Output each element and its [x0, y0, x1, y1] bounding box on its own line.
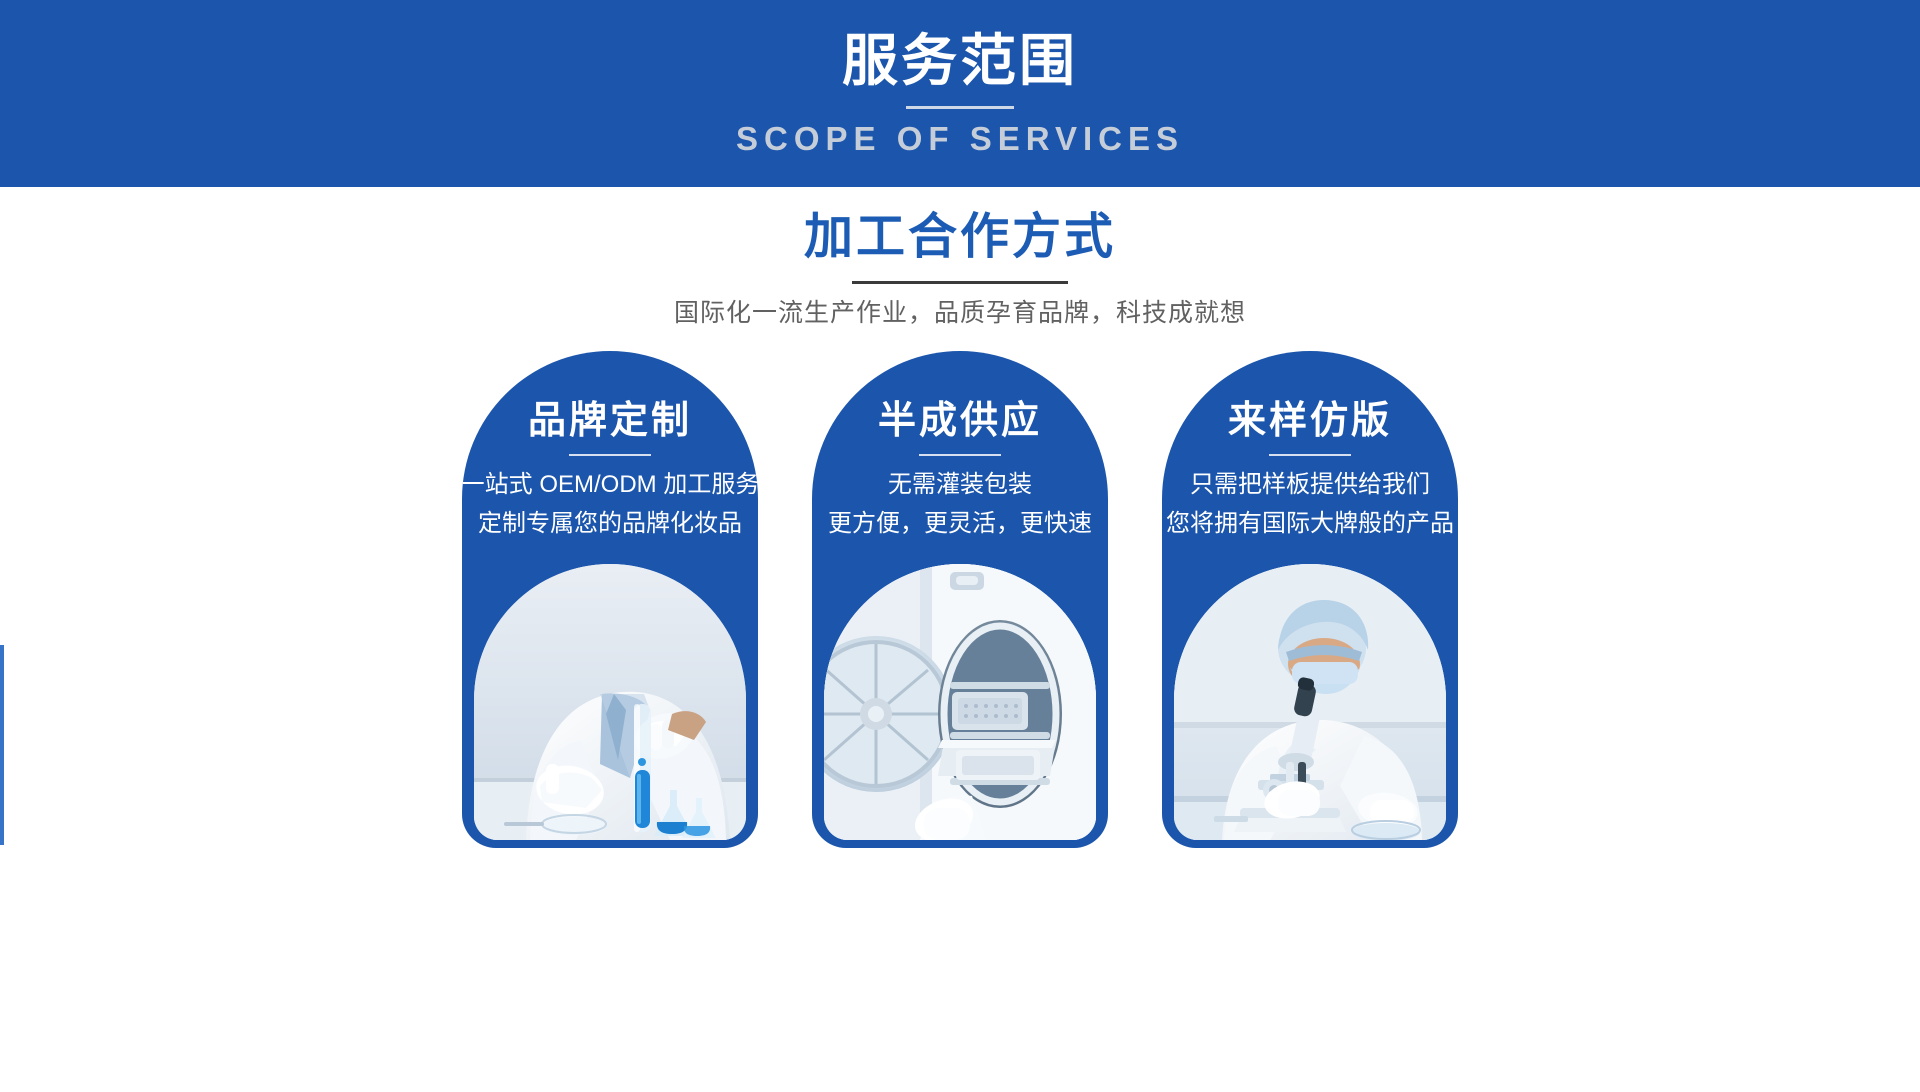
- scientist-pipette-photo: [474, 564, 746, 840]
- card-description: 只需把样板提供给我们 您将拥有国际大牌般的产品: [1162, 471, 1458, 537]
- section-divider: [852, 281, 1068, 284]
- page-root: 服务范围 SCOPE OF SERVICES 加工合作方式 国际化一流生产作业，…: [0, 0, 1920, 1092]
- card-title: 来样仿版: [1228, 402, 1392, 440]
- section-header: 加工合作方式 国际化一流生产作业，品质孕育品牌，科技成就想: [0, 187, 1920, 328]
- card-line-2: 您将拥有国际大牌般的产品: [1166, 510, 1454, 538]
- banner-divider: [906, 106, 1014, 109]
- photo-illustration: [1174, 564, 1446, 840]
- section-title: 加工合作方式: [804, 209, 1116, 265]
- service-card-semi-finished-supply[interactable]: 半成供应 无需灌装包装 更方便，更灵活，更快速: [812, 351, 1108, 848]
- photo-illustration: [474, 564, 746, 840]
- scope-of-services-banner: 服务范围 SCOPE OF SERVICES: [0, 0, 1920, 187]
- card-divider: [569, 454, 651, 456]
- section-subtitle: 国际化一流生产作业，品质孕育品牌，科技成就想: [674, 298, 1246, 328]
- service-card-sample-replication[interactable]: 来样仿版 只需把样板提供给我们 您将拥有国际大牌般的产品: [1162, 351, 1458, 848]
- card-divider: [1269, 454, 1351, 456]
- card-title: 半成供应: [878, 402, 1042, 440]
- card-line-1: 一站式 OEM/ODM 加工服务: [462, 471, 758, 499]
- card-description: 一站式 OEM/ODM 加工服务 定制专属您的品牌化妆品: [462, 471, 758, 537]
- photo-illustration: [824, 564, 1096, 840]
- autoclave-sterilizer-photo: [824, 564, 1096, 840]
- card-line-2: 定制专属您的品牌化妆品: [478, 510, 742, 538]
- card-line-1: 无需灌装包装: [888, 471, 1032, 499]
- service-cards-row: 品牌定制 一站式 OEM/ODM 加工服务 定制专属您的品牌化妆品: [0, 351, 1920, 851]
- banner-title-en: SCOPE OF SERVICES: [736, 122, 1184, 155]
- microscope-researcher-photo: [1174, 564, 1446, 840]
- card-line-1: 只需把样板提供给我们: [1190, 471, 1430, 499]
- banner-title-cn: 服务范围: [842, 33, 1078, 89]
- card-title: 品牌定制: [528, 402, 692, 440]
- card-description: 无需灌装包装 更方便，更灵活，更快速: [812, 471, 1108, 537]
- card-divider: [919, 454, 1001, 456]
- card-line-2: 更方便，更灵活，更快速: [828, 510, 1092, 538]
- left-edge-strip-artifact: [0, 645, 4, 845]
- service-card-brand-customization[interactable]: 品牌定制 一站式 OEM/ODM 加工服务 定制专属您的品牌化妆品: [462, 351, 758, 848]
